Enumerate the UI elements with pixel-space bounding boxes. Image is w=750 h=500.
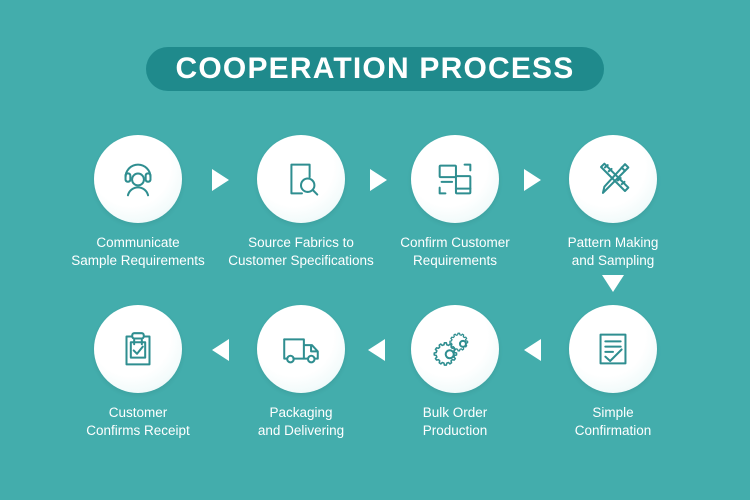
delivery-truck-icon <box>278 326 324 372</box>
step-3-icon-circle <box>411 135 499 223</box>
step-8-label: Customer Confirms Receipt <box>86 404 190 440</box>
step-1-communicate-sample-requirements[interactable]: Communicate Sample Requirements <box>63 135 213 270</box>
document-search-icon <box>278 156 324 202</box>
document-check-icon <box>590 326 636 372</box>
title-banner: COOPERATION PROCESS <box>146 47 604 91</box>
step-3-label: Confirm Customer Requirements <box>400 234 510 270</box>
step-7-icon-circle <box>257 305 345 393</box>
step-8-icon-circle <box>94 305 182 393</box>
step-8-customer-confirms-receipt[interactable]: Customer Confirms Receipt <box>63 305 213 440</box>
step-6-bulk-order-production[interactable]: Bulk Order Production <box>380 305 530 440</box>
devices-confirm-icon <box>432 156 478 202</box>
step-5-simple-confirmation[interactable]: Simple Confirmation <box>538 305 688 440</box>
step-2-source-fabrics[interactable]: Source Fabrics to Customer Specification… <box>226 135 376 270</box>
page-title: COOPERATION PROCESS <box>176 54 575 84</box>
step-4-label: Pattern Making and Sampling <box>568 234 659 270</box>
step-1-label: Communicate Sample Requirements <box>71 234 205 270</box>
headset-person-icon <box>115 156 161 202</box>
step-3-confirm-customer-requirements[interactable]: Confirm Customer Requirements <box>380 135 530 270</box>
arrow-down-icon <box>602 275 624 292</box>
step-6-icon-circle <box>411 305 499 393</box>
step-7-label: Packaging and Delivering <box>258 404 344 440</box>
step-5-icon-circle <box>569 305 657 393</box>
step-2-label: Source Fabrics to Customer Specification… <box>228 234 374 270</box>
step-6-label: Bulk Order Production <box>423 404 488 440</box>
step-5-label: Simple Confirmation <box>575 404 652 440</box>
step-1-icon-circle <box>94 135 182 223</box>
pencil-ruler-icon <box>590 156 636 202</box>
step-4-icon-circle <box>569 135 657 223</box>
step-2-icon-circle <box>257 135 345 223</box>
step-7-packaging-and-delivering[interactable]: Packaging and Delivering <box>226 305 376 440</box>
clipboard-check-icon <box>115 326 161 372</box>
step-4-pattern-making-and-sampling[interactable]: Pattern Making and Sampling <box>538 135 688 270</box>
gears-icon <box>432 326 478 372</box>
cooperation-process-infographic: COOPERATION PROCESS Communicate Sample R… <box>0 0 750 500</box>
